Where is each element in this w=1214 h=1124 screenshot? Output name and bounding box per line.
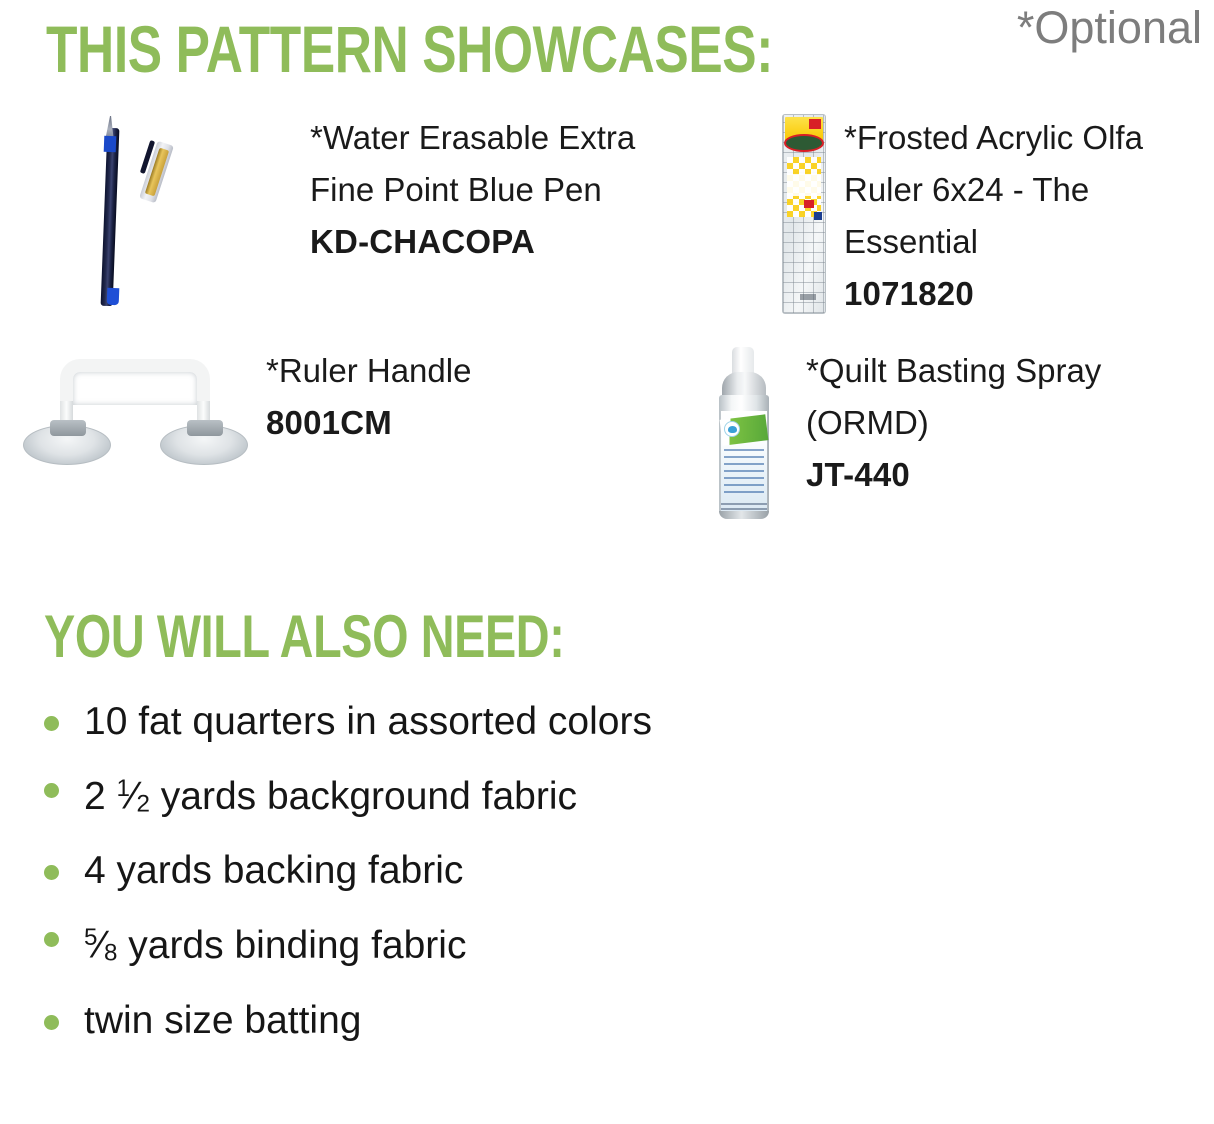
product-name: *Frosted Acrylic Olfa Ruler 6x24 - The E… bbox=[844, 112, 1204, 268]
list-item-label: 10 fat quarters in assorted colors bbox=[84, 700, 652, 743]
section-title-also-need: YOU WILL ALSO NEED: bbox=[44, 607, 564, 667]
product-name: *Ruler Handle bbox=[266, 345, 646, 397]
list-item: 5⁄8 yards binding fabric bbox=[40, 904, 940, 986]
list-item-label: 4 yards backing fabric bbox=[84, 849, 463, 892]
also-need-list: 10 fat quarters in assorted colors2 1⁄2 … bbox=[40, 688, 940, 1054]
product-sku: KD-CHACOPA bbox=[310, 216, 680, 268]
product-sku: 1071820 bbox=[844, 268, 1204, 320]
suction-cup-ruler-handle-icon bbox=[30, 345, 240, 455]
page-title-showcases: THIS PATTERN SHOWCASES: bbox=[46, 16, 773, 82]
product-item-frosted-acrylic-olfa-ruler: *Frosted Acrylic Olfa Ruler 6x24 - The E… bbox=[778, 112, 1214, 321]
fraction: 1⁄2 bbox=[117, 755, 150, 837]
product-text-block: *Ruler Handle 8001CM bbox=[266, 345, 646, 449]
fraction: 5⁄8 bbox=[84, 904, 117, 986]
product-text-block: *Quilt Basting Spray (ORMD) JT-440 bbox=[806, 345, 1166, 501]
list-item-label: 5⁄8 yards binding fabric bbox=[84, 924, 466, 967]
product-sku: 8001CM bbox=[266, 397, 646, 449]
list-item: 2 1⁄2 yards background fabric bbox=[40, 755, 940, 837]
bullet-dot-icon bbox=[44, 716, 59, 731]
product-name: *Quilt Basting Spray (ORMD) bbox=[806, 345, 1166, 449]
product-sku: JT-440 bbox=[806, 449, 1166, 501]
list-item: 4 yards backing fabric bbox=[40, 837, 940, 904]
list-item: 10 fat quarters in assorted colors bbox=[40, 688, 940, 755]
optional-note: *Optional bbox=[1017, 4, 1202, 51]
acrylic-quilting-ruler-icon bbox=[778, 112, 830, 317]
list-item-label: 2 1⁄2 yards background fabric bbox=[84, 775, 577, 818]
bullet-dot-icon bbox=[44, 1015, 59, 1030]
bullet-dot-icon bbox=[44, 932, 59, 947]
product-text-block: *Frosted Acrylic Olfa Ruler 6x24 - The E… bbox=[844, 112, 1204, 321]
blue-marking-pen-icon bbox=[60, 112, 180, 312]
list-item-label: twin size batting bbox=[84, 999, 361, 1042]
product-text-block: *Water Erasable Extra Fine Point Blue Pe… bbox=[310, 112, 680, 268]
product-item-quilt-basting-spray: *Quilt Basting Spray (ORMD) JT-440 bbox=[700, 345, 1210, 525]
bullet-dot-icon bbox=[44, 865, 59, 880]
spray-can-icon bbox=[700, 345, 790, 525]
product-item-water-erasable-pen: *Water Erasable Extra Fine Point Blue Pe… bbox=[60, 112, 680, 312]
product-item-ruler-handle: *Ruler Handle 8001CM bbox=[30, 345, 650, 455]
bullet-dot-icon bbox=[44, 783, 59, 798]
list-item: twin size batting bbox=[40, 987, 940, 1054]
product-name: *Water Erasable Extra Fine Point Blue Pe… bbox=[310, 112, 680, 216]
